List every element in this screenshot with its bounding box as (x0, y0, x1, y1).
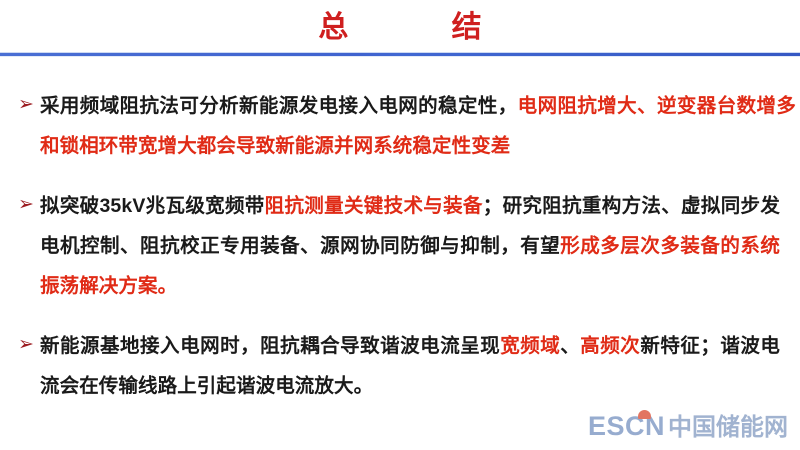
bullet-segment-emphasis: 宽频域 (500, 335, 560, 357)
bullet-text: 采用频域阻抗法可分析新能源发电接入电网的稳定性，电网阻抗增大、逆变器台数增多和锁… (40, 86, 800, 166)
bullet-segment-plain: 拟突破35kV兆瓦级宽频带 (40, 195, 265, 217)
watermark-brand: ESCN (588, 411, 665, 442)
watermark-logo: ESCN 中国储能网 (588, 407, 788, 442)
bullet-item: ➢ 新能源基地接入电网时，阻抗耦合导致谐波电流呈现宽频域、高频次新特征；谐波电流… (0, 326, 800, 406)
watermark-brand-cn: 中国储能网 (668, 407, 788, 442)
slide-header: 总 结 (0, 0, 800, 58)
bullet-arrow-icon: ➢ (18, 189, 34, 219)
bullet-arrow-icon: ➢ (18, 89, 34, 119)
title-divider (0, 52, 800, 57)
bullet-segment-emphasis: 阻抗测量关键技术与装备 (265, 195, 483, 217)
bullet-text: 拟突破35kV兆瓦级宽频带阻抗测量关键技术与装备；研究阻抗重构方法、虚拟同步发电… (40, 186, 800, 306)
title-divider-shadow (0, 56, 800, 57)
bullet-item: ➢ 拟突破35kV兆瓦级宽频带阻抗测量关键技术与装备；研究阻抗重构方法、虚拟同步… (0, 186, 800, 306)
watermark-arc-icon (638, 410, 651, 419)
bullet-segment-plain: 采用频域阻抗法可分析新能源发电接入电网的稳定性， (40, 95, 518, 117)
bullet-text: 新能源基地接入电网时，阻抗耦合导致谐波电流呈现宽频域、高频次新特征；谐波电流会在… (40, 326, 800, 406)
slide-body: ➢ 采用频域阻抗法可分析新能源发电接入电网的稳定性，电网阻抗增大、逆变器台数增多… (0, 86, 800, 416)
page-title: 总 结 (0, 9, 800, 47)
bullet-arrow-icon: ➢ (18, 329, 34, 359)
watermark-brand-text: ESCN (588, 411, 665, 441)
slide-root: 总 结 ➢ 采用频域阻抗法可分析新能源发电接入电网的稳定性，电网阻抗增大、逆变器… (0, 0, 800, 450)
bullet-item: ➢ 采用频域阻抗法可分析新能源发电接入电网的稳定性，电网阻抗增大、逆变器台数增多… (0, 86, 800, 166)
bullet-segment-plain: 、 (560, 335, 580, 357)
bullet-segment-plain: 新能源基地接入电网时，阻抗耦合导致谐波电流呈现 (40, 335, 500, 357)
bullet-segment-emphasis: 高频次 (580, 335, 640, 357)
